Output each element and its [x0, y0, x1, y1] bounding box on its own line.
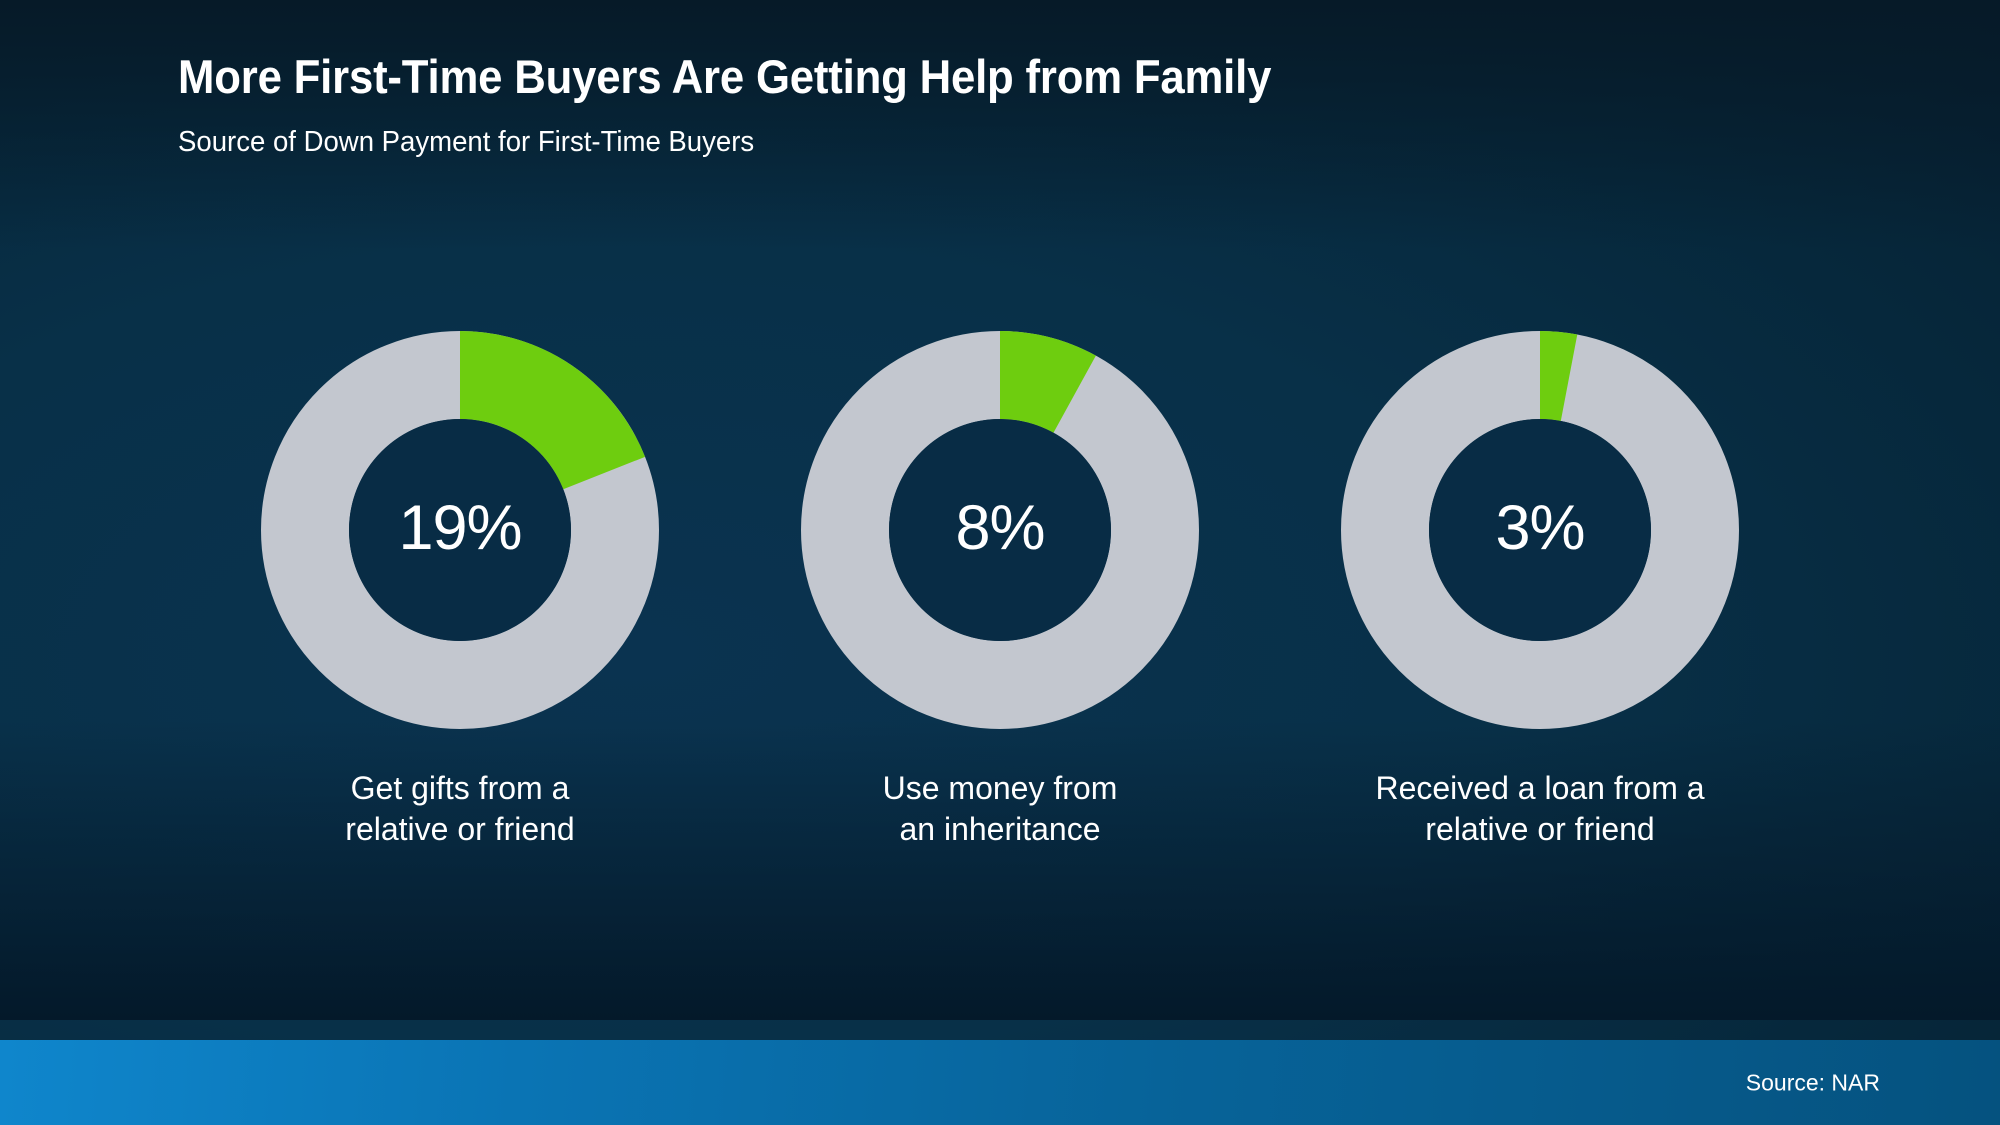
donut-chart-card-3: 3% Received a loan from a relative or fr… — [1270, 330, 1810, 850]
header-block: More First-Time Buyers Are Getting Help … — [178, 52, 1878, 160]
donut-chart-card-2: 8% Use money from an inheritance — [730, 330, 1270, 850]
donut-chart-3: 3% — [1340, 330, 1740, 730]
donut-value-label-2: 8% — [800, 497, 1200, 560]
donut-caption-1-line2: relative or friend — [345, 809, 574, 850]
page-subtitle: Source of Down Payment for First-Time Bu… — [178, 125, 1793, 160]
footer-bar: Source: NAR — [0, 1040, 2000, 1125]
donut-caption-3-line2: relative or friend — [1375, 809, 1704, 850]
donut-chart-2: 8% — [800, 330, 1200, 730]
donut-chart-card-1: 19% Get gifts from a relative or friend — [190, 330, 730, 850]
donut-value-label-1: 19% — [260, 497, 660, 560]
donut-caption-2-line2: an inheritance — [883, 809, 1118, 850]
infographic-slide: More First-Time Buyers Are Getting Help … — [0, 0, 2000, 1125]
source-attribution: Source: NAR — [1746, 1069, 1880, 1096]
donut-caption-1-line1: Get gifts from a — [345, 768, 574, 809]
donut-chart-row: 19% Get gifts from a relative or friend … — [0, 330, 2000, 890]
page-title: More First-Time Buyers Are Getting Help … — [178, 52, 1759, 103]
donut-chart-1: 19% — [260, 330, 660, 730]
donut-caption-2-line1: Use money from — [883, 768, 1118, 809]
donut-caption-3-line1: Received a loan from a — [1375, 768, 1704, 809]
donut-value-label-3: 3% — [1340, 497, 1740, 560]
donut-caption-1: Get gifts from a relative or friend — [345, 768, 574, 850]
donut-caption-2: Use money from an inheritance — [883, 768, 1118, 850]
donut-caption-3: Received a loan from a relative or frien… — [1375, 768, 1704, 850]
